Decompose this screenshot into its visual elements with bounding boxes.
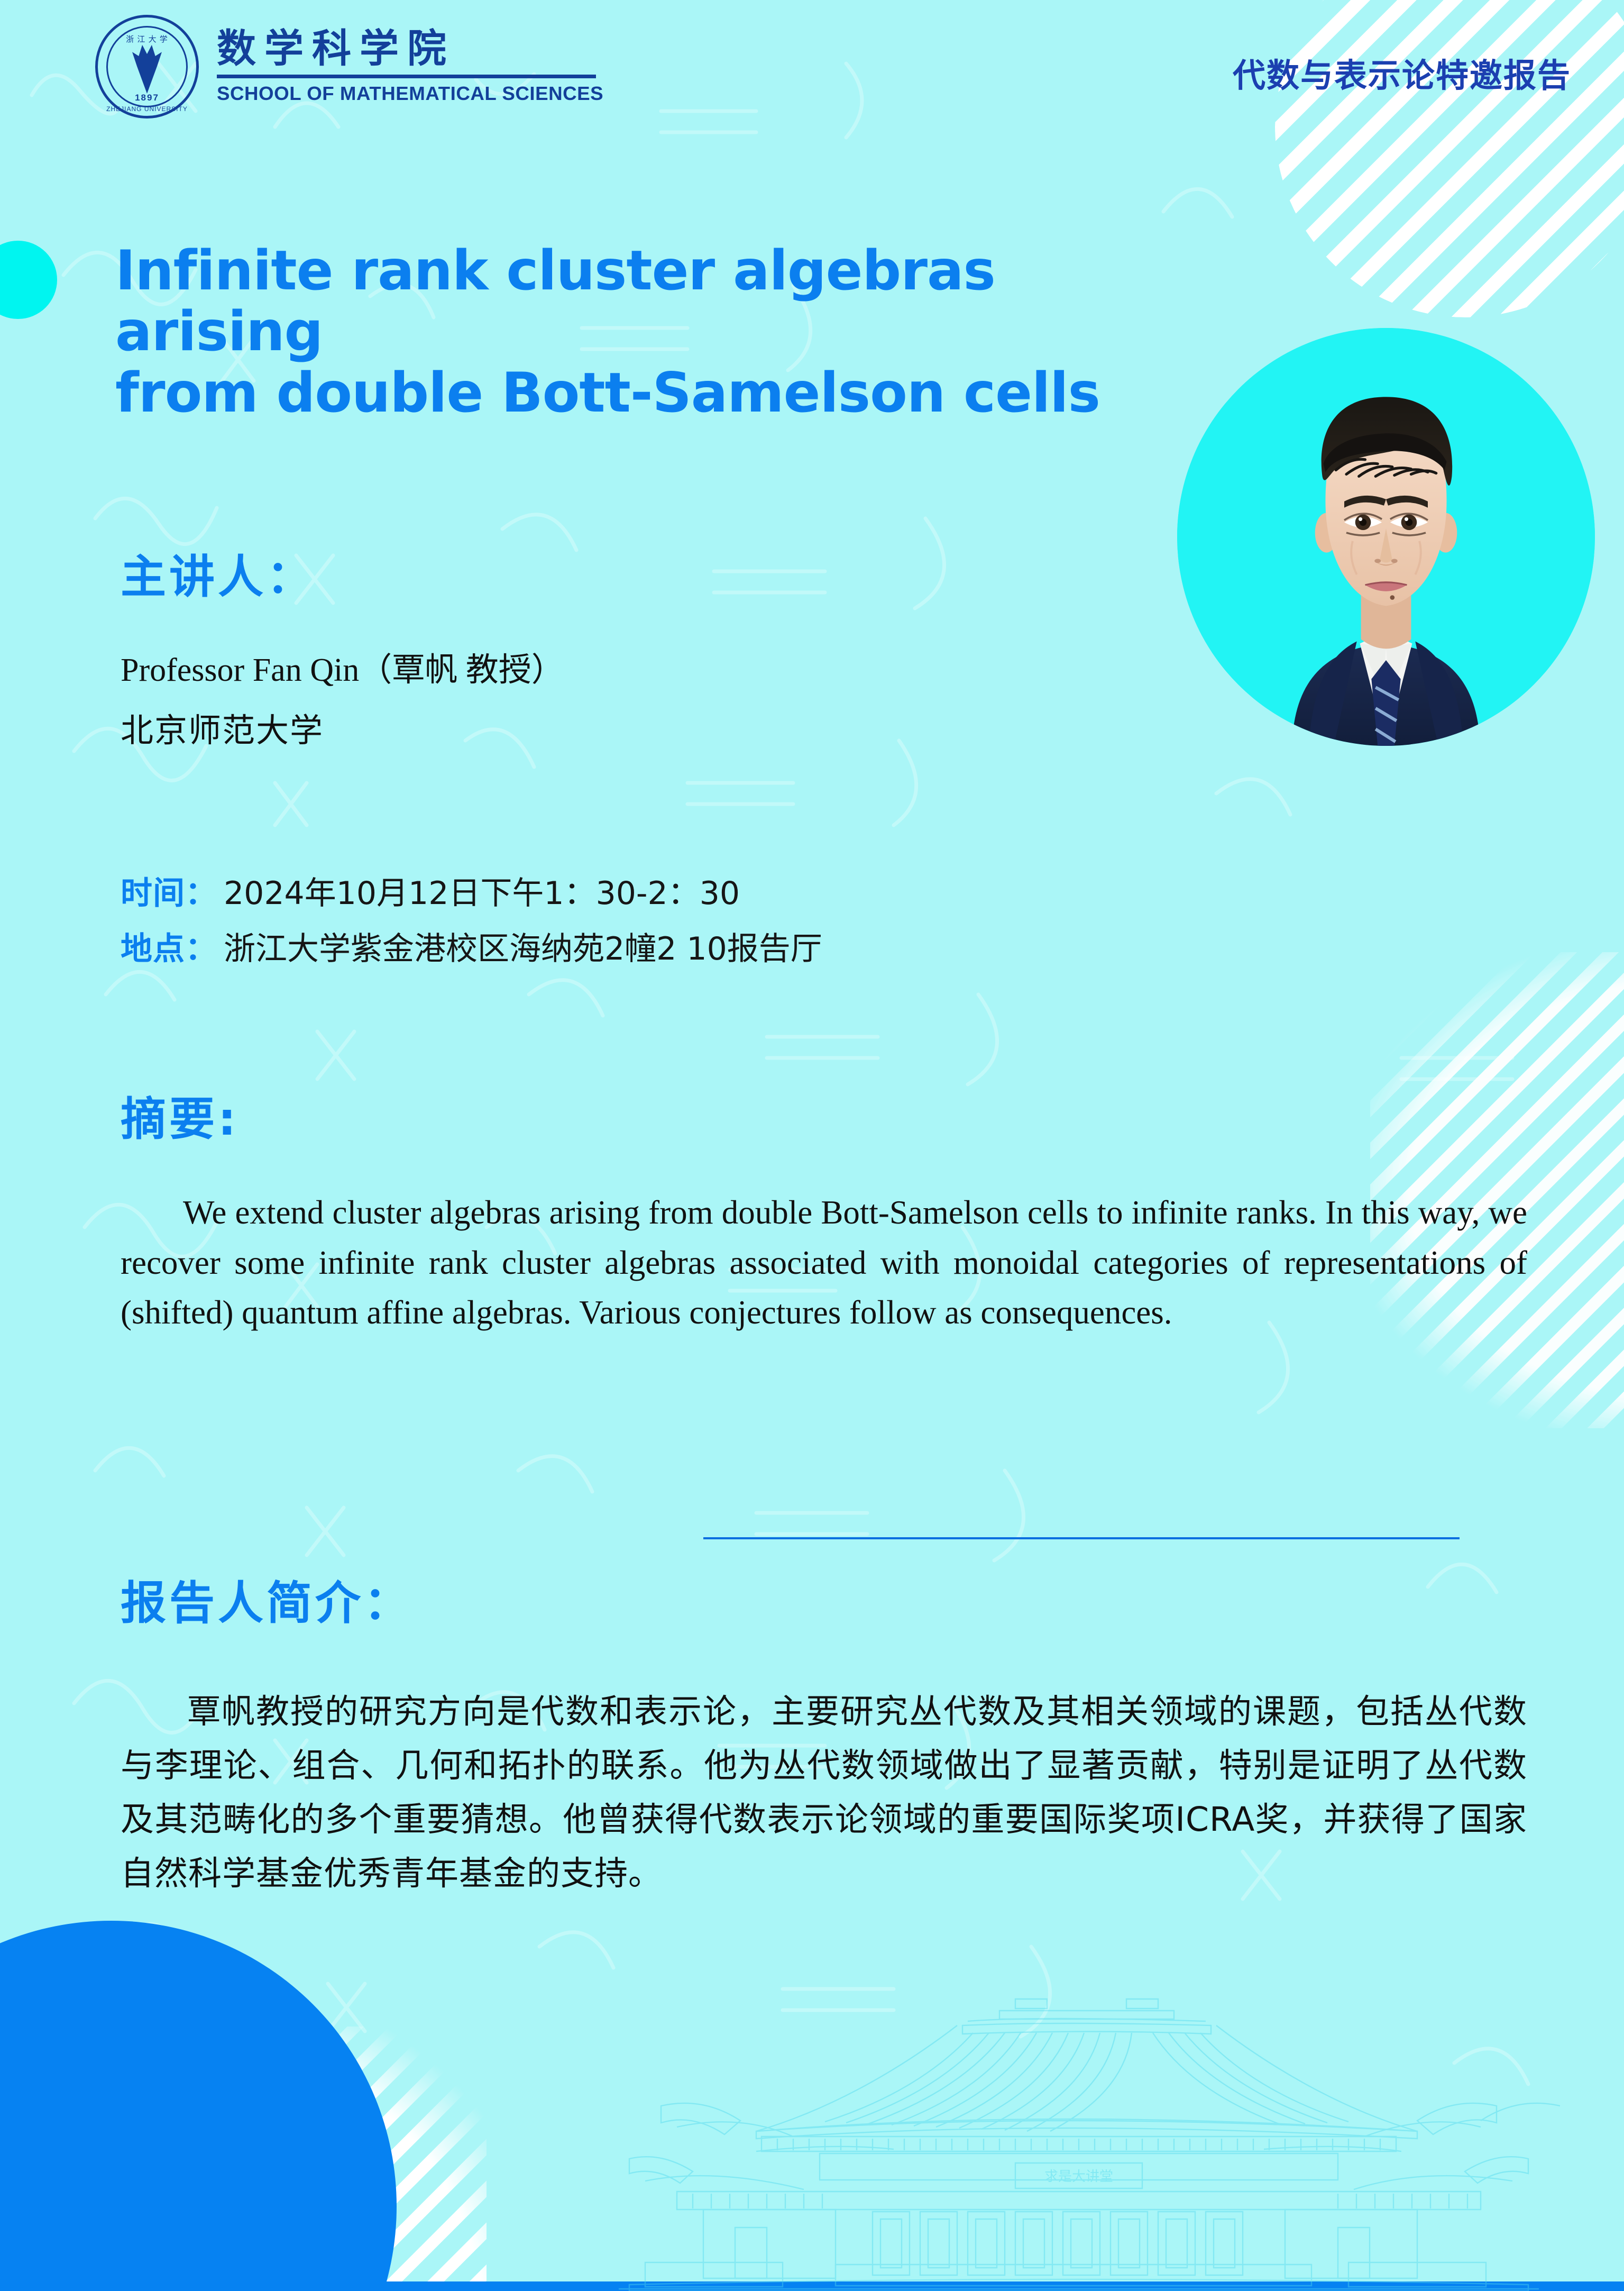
- series-tag: 代数与表示论特邀报告: [1233, 49, 1571, 96]
- seal-arc-bottom-label: ZHEJIANG UNIVERSITY: [98, 105, 196, 113]
- place-value: 浙江大学紫金港校区海纳苑2幢2 10报告厅: [224, 923, 822, 969]
- school-name-block: 数学科学院 SCHOOL OF MATHEMATICAL SCIENCES: [217, 29, 596, 105]
- zju-seal-icon: 浙 江 大 学 1897 ZHEJIANG UNIVERSITY: [95, 15, 199, 118]
- seal-bird-glyph: [132, 43, 162, 94]
- talk-title-line2: from double Bott-Samelson cells: [115, 363, 1131, 424]
- abstract-heading: 摘要:: [121, 1082, 239, 1148]
- cyan-dot-decoration: [0, 241, 57, 319]
- speaker-name: Professor Fan Qin（覃帆 教授）: [121, 643, 564, 690]
- poster-canvas: 求是大讲堂 浙 江 大 学 1897: [0, 0, 1624, 2291]
- event-meta: 时间： 2024年10月12日下午1：30-2：30 地点： 浙江大学紫金港校区…: [121, 868, 822, 979]
- speaker-heading: 主讲人：: [121, 540, 315, 606]
- time-value: 2024年10月12日下午1：30-2：30: [224, 868, 740, 914]
- talk-title: Infinite rank cluster algebras arising f…: [115, 241, 1131, 424]
- seal-year-label: 1897: [98, 93, 196, 103]
- section-divider: [703, 1537, 1460, 1539]
- school-name-en: SCHOOL OF MATHEMATICAL SCIENCES: [217, 83, 603, 105]
- logo-divider-rule: [217, 75, 596, 78]
- svg-text:求是大讲堂: 求是大讲堂: [1044, 2169, 1113, 2185]
- abstract-body: We extend cluster algebras arising from …: [121, 1188, 1527, 1338]
- school-name-cn: 数学科学院: [217, 29, 596, 70]
- place-label: 地点：: [121, 923, 217, 969]
- event-time-row: 时间： 2024年10月12日下午1：30-2：30: [121, 868, 822, 914]
- zju-math-logo: 浙 江 大 学 1897 ZHEJIANG UNIVERSITY 数学科学院 S…: [95, 15, 596, 118]
- poster-header: 浙 江 大 学 1897 ZHEJIANG UNIVERSITY 数学科学院 S…: [0, 0, 1624, 153]
- portrait-illustration: [1177, 328, 1595, 746]
- speaker-affiliation: 北京师范大学: [121, 704, 324, 751]
- talk-title-line1: Infinite rank cluster algebras arising: [115, 241, 1131, 363]
- event-place-row: 地点： 浙江大学紫金港校区海纳苑2幢2 10报告厅: [121, 923, 822, 969]
- temple-line-art: 求是大讲堂: [598, 1995, 1560, 2291]
- bio-heading: 报告人简介：: [121, 1566, 412, 1632]
- seal-arc-top-label: 浙 江 大 学: [98, 33, 196, 44]
- blue-circle-decoration: [0, 1921, 397, 2291]
- bio-body: 覃帆教授的研究方向是代数和表示论，主要研究丛代数及其相关领域的课题，包括丛代数与…: [121, 1685, 1527, 1901]
- speaker-portrait: [1177, 328, 1595, 746]
- time-label: 时间：: [121, 868, 217, 914]
